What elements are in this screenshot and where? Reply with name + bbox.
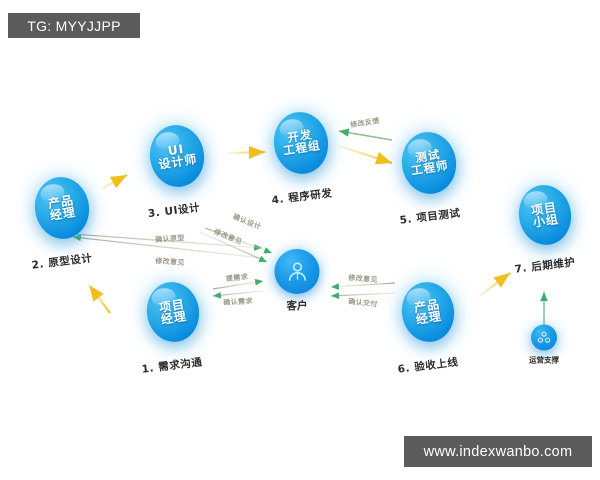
bubble-project-group[interactable]: 项目 小组 [515,181,576,248]
edge-layer [0,0,600,480]
flow-arrow-ui-to-dev [227,152,265,153]
node-label-line2: 工程组 [282,140,321,157]
support-icon-circle[interactable] [531,325,557,351]
watermark-bottom-right: www.indexwanbo.com [404,436,592,467]
watermark-top-left: TG: MYYJJPP [8,13,140,38]
bubble-project-manager[interactable]: 项目 经理 [143,278,204,345]
node-label-line2: 经理 [49,206,77,222]
edge-label-revision-prototype: 修改意见 [155,256,185,268]
node-project-group[interactable]: 项目 小组 [519,185,571,245]
flow-arrow-pm-right-to-group [478,273,510,297]
support-label: 运营支撑 [529,355,559,366]
node-label-line2: 经理 [415,310,443,326]
group-network-icon [536,330,552,346]
diagram-canvas: 产品 经理 2. 原型设计 UI 设计师 3. UI设计 开发 工程组 4. 程… [0,0,600,480]
node-label-line2: 小组 [532,213,560,229]
node-ui-designer[interactable]: UI 设计师 [150,125,204,187]
edge-label-submit-requirement: 提需求 [226,272,249,284]
node-label-line2: 经理 [160,310,188,326]
exchange-requirement [213,281,263,296]
flow-arrow-project-manager-to-pm-left [89,285,110,313]
node-dev-team[interactable]: 开发 工程组 [274,112,328,174]
flow-arrow-dev-to-test [339,146,392,163]
bubble-product-manager-left[interactable]: 产品 经理 [30,173,93,243]
node-customer[interactable]: 客户 [275,249,320,313]
node-product-manager-right[interactable]: 产品 经理 [402,282,454,342]
feedback-arrow-test-to-dev [339,131,392,140]
bubble-test-engineer[interactable]: 测试 工程师 [397,128,460,198]
node-product-manager-left[interactable]: 产品 经理 [35,177,89,239]
customer-label: 客户 [275,298,320,313]
edge-label-confirm-requirement: 确认需求 [223,296,253,308]
bubble-ui-designer[interactable]: UI 设计师 [145,121,208,191]
person-icon [284,259,310,285]
node-label-line2: 工程师 [410,160,449,177]
node-test-engineer[interactable]: 测试 工程师 [402,132,456,194]
edge-label-confirm-prototype: 确认原型 [155,233,185,245]
exchange-delivery [331,283,395,296]
customer-icon-circle[interactable] [275,249,320,294]
bubble-dev-team[interactable]: 开发 工程组 [269,108,332,178]
flow-arrow-pm-to-ui [101,175,127,189]
node-operation-support[interactable]: 运营支撑 [529,325,559,366]
node-project-manager[interactable]: 项目 经理 [147,282,199,342]
bubble-product-manager-right[interactable]: 产品 经理 [398,278,459,345]
